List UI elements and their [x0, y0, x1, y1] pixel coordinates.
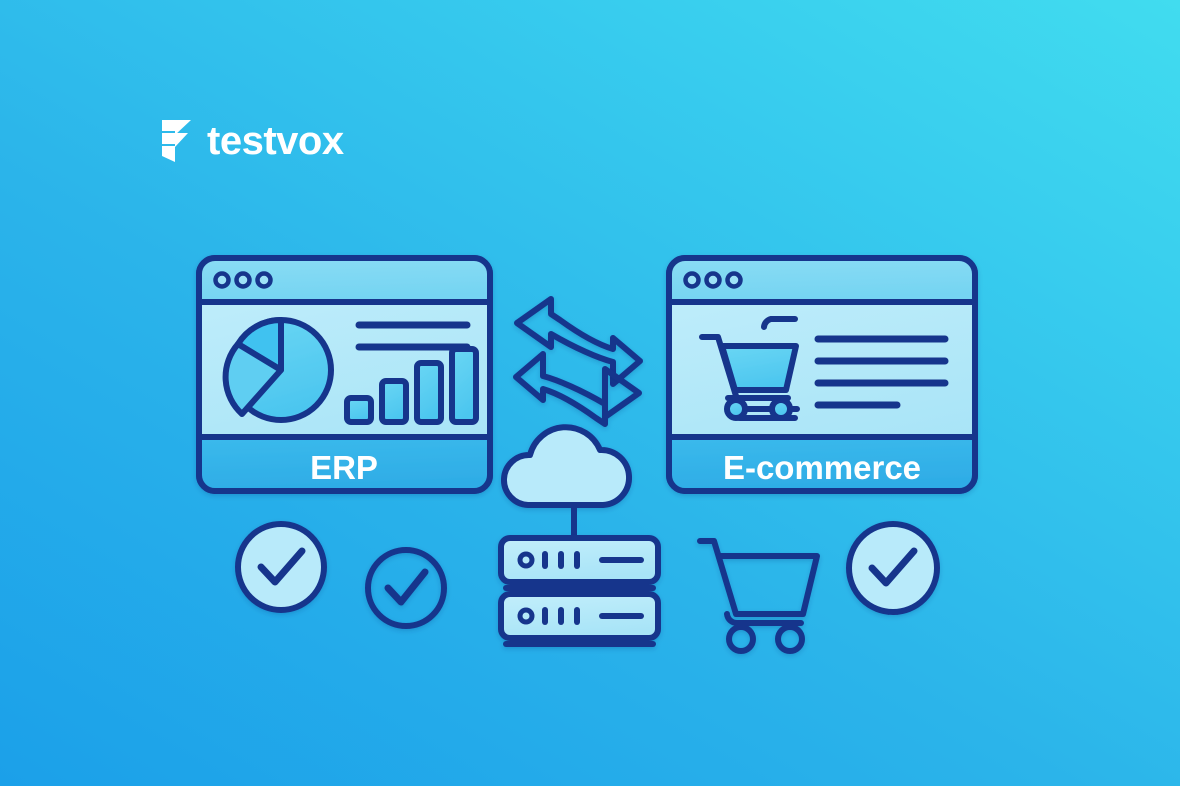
ecommerce-label: E-commerce [723, 449, 921, 486]
cart2-frame [700, 541, 802, 614]
check-circle-icon-1 [238, 524, 324, 610]
erp-window-dot-2[interactable] [237, 274, 250, 287]
panel-erp[interactable]: ERP [199, 258, 490, 491]
bar-3 [417, 363, 441, 422]
erp-window-dot-1[interactable] [216, 274, 229, 287]
erp-label: ERP [310, 449, 378, 486]
bar-1 [347, 398, 371, 422]
cart-wheel-2 [772, 400, 790, 418]
cart2-wheel-2 [778, 627, 802, 651]
cloud-icon [504, 427, 629, 505]
ecommerce-window-dot-3[interactable] [728, 274, 741, 287]
pie-chart-icon [226, 320, 331, 420]
check-circle-icon-3 [849, 524, 937, 612]
ecommerce-window-dot-1[interactable] [686, 274, 699, 287]
check-circle-icon-2 [368, 550, 444, 626]
cart2-wheel-1 [729, 627, 753, 651]
cart-basket [722, 346, 796, 390]
shopping-cart-outline-icon [700, 541, 817, 651]
panel-ecommerce[interactable]: E-commerce [669, 258, 975, 491]
server-stack-icon [501, 538, 658, 644]
illustration-canvas: testvox [0, 0, 1180, 786]
bar-4 [452, 349, 476, 422]
sync-arrow-left-icon [517, 299, 640, 384]
integration-diagram: ERP [0, 0, 1180, 786]
cart-wheel-1 [727, 400, 745, 418]
ecommerce-window-dot-2[interactable] [707, 274, 720, 287]
erp-window-dot-3[interactable] [258, 274, 271, 287]
bar-2 [382, 381, 406, 422]
sync-arrow-right-icon [516, 354, 639, 424]
